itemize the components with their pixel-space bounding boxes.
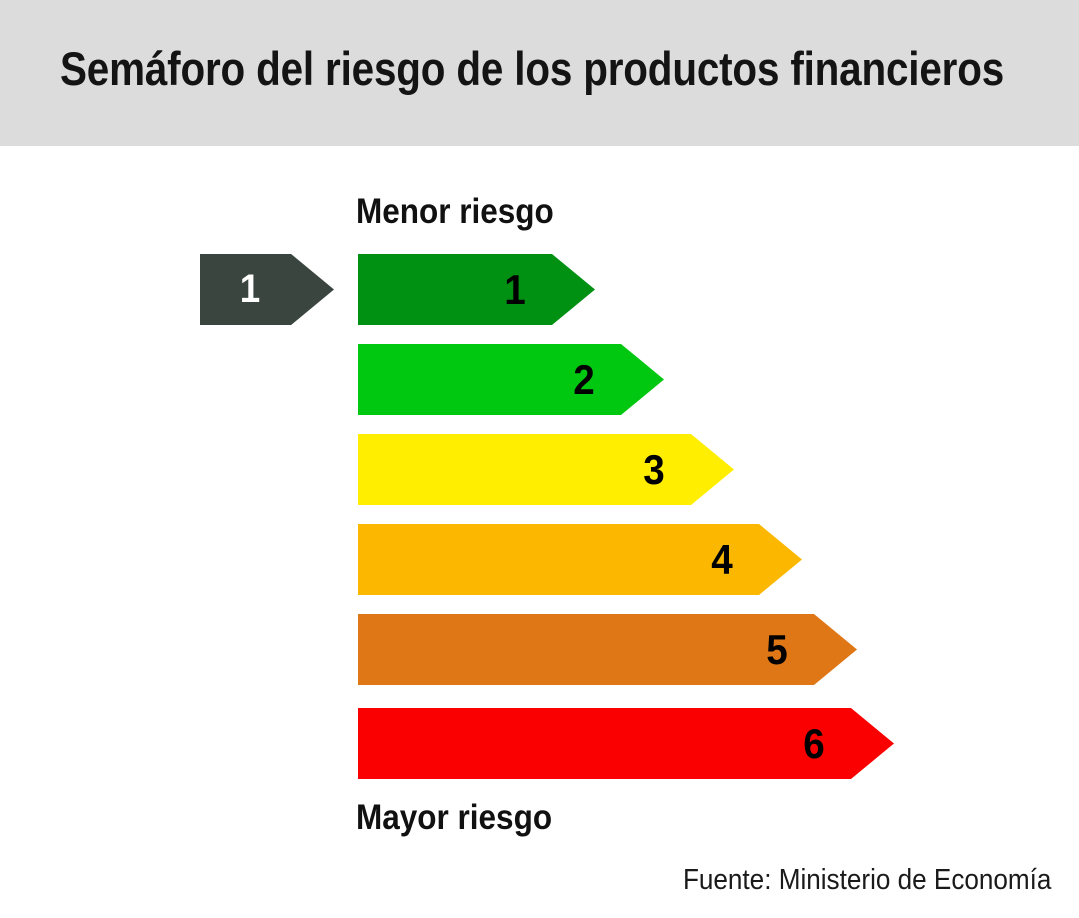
current-rating-value: 1	[232, 254, 269, 325]
rating-bar-4-label: 4	[701, 524, 743, 595]
rating-bar-3-label: 3	[633, 434, 675, 505]
risk-scale-chart: Menor riesgo 1 1 2 3 4 5 6 Mayor riesgo	[0, 146, 1079, 918]
page-title: Semáforo del riesgo de los productos fin…	[60, 41, 1004, 96]
rating-bar-1-label: 1	[494, 254, 536, 325]
rating-bar-2-label: 2	[563, 344, 605, 415]
rating-bar-5-label: 5	[756, 614, 798, 685]
rating-bar-6-label: 6	[793, 708, 835, 779]
current-rating-pointer[interactable]: 1	[200, 254, 334, 325]
rating-bar-1[interactable]: 1	[358, 254, 595, 325]
rating-bar-6[interactable]: 6	[358, 708, 894, 779]
rating-bar-2-shape	[358, 344, 664, 415]
rating-bar-2[interactable]: 2	[358, 344, 664, 415]
rating-bar-4[interactable]: 4	[358, 524, 802, 595]
low-risk-caption: Menor riesgo	[356, 192, 554, 232]
rating-bar-5[interactable]: 5	[358, 614, 857, 685]
rating-bar-1-shape	[358, 254, 595, 325]
high-risk-caption: Mayor riesgo	[356, 798, 552, 838]
rating-bar-3-shape	[358, 434, 734, 505]
source-note: Fuente: Ministerio de Economía	[683, 864, 1051, 897]
header-band: Semáforo del riesgo de los productos fin…	[0, 0, 1079, 146]
rating-bar-3[interactable]: 3	[358, 434, 734, 505]
